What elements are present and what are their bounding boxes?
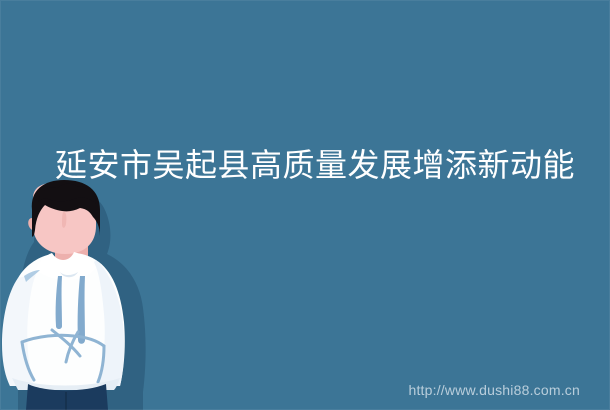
site-url-watermark: http://www.dushi88.com.cn bbox=[408, 381, 580, 399]
page-title: 延安市吴起县高质量发展增添新动能 bbox=[55, 146, 575, 184]
person-illustration bbox=[0, 180, 175, 410]
image-canvas: 延安市吴起县高质量发展增添新动能 http://www.dushi88.com.… bbox=[0, 0, 610, 410]
